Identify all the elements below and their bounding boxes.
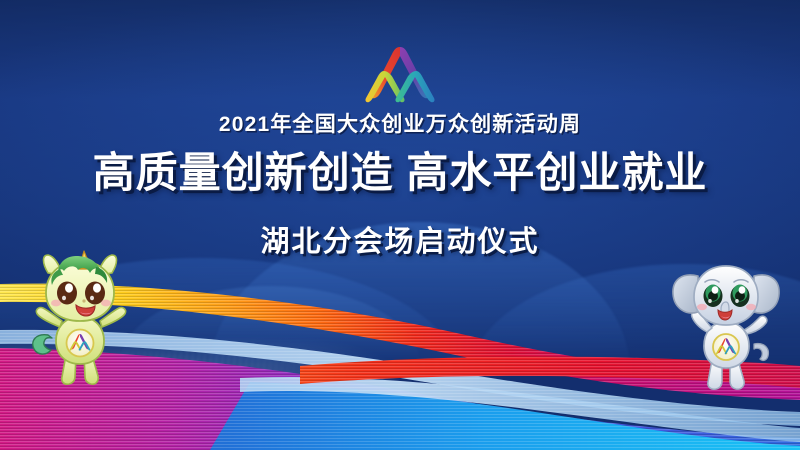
event-headline: 高质量创新创造 高水平创业就业 <box>0 139 800 200</box>
elephant-mascot <box>668 252 790 392</box>
unicorn-mascot <box>18 243 150 388</box>
event-logo <box>0 41 800 107</box>
rainbow-a-badge-icon <box>67 330 94 357</box>
rainbow-a-badge-icon <box>713 334 739 360</box>
event-banner: 2021年全国大众创业万众创新活动周 高质量创新创造 高水平创业就业 湖北分会场… <box>0 0 800 450</box>
rainbow-double-peak-a-logo <box>358 41 442 107</box>
event-eyebrow-title: 2021年全国大众创业万众创新活动周 <box>0 108 800 138</box>
